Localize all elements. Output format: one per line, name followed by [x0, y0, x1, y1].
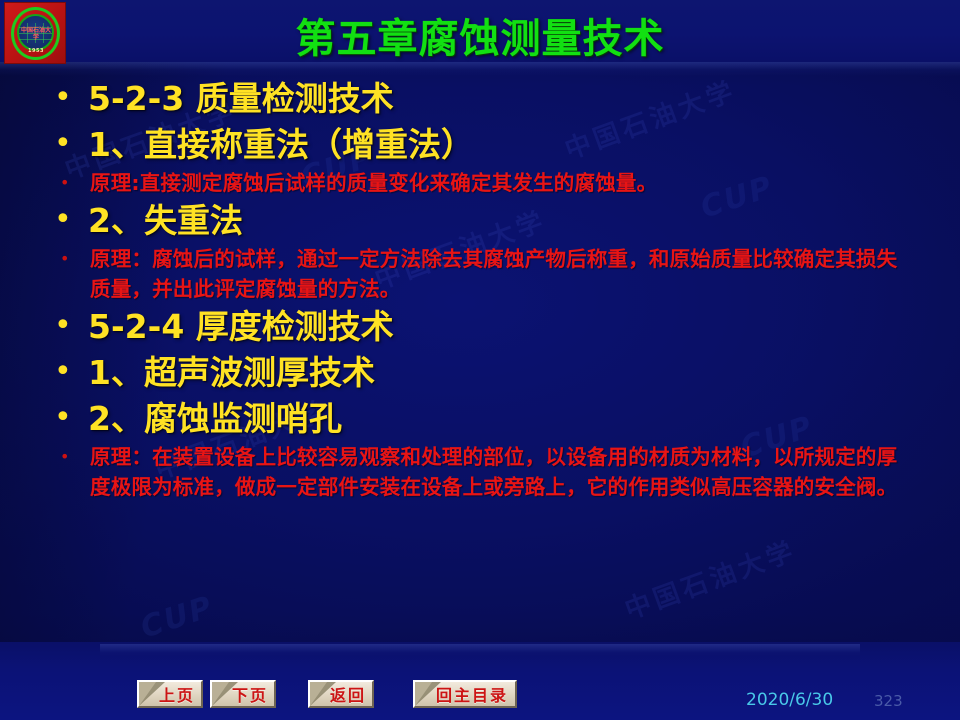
- sub-text: 原理：在装置设备上比较容易观察和处理的部位，以设备用的材质为材料，以所规定的厚度…: [90, 442, 902, 502]
- content-sub-row: •原理：在装置设备上比较容易观察和处理的部位，以设备用的材质为材料，以所规定的厚…: [0, 442, 960, 502]
- slide-title-bar: 第五章腐蚀测量技术: [0, 0, 960, 62]
- heading-text: 1、超声波测厚技术: [88, 350, 375, 396]
- seal-chinese-name: 中国石油大学: [19, 27, 53, 41]
- return-label: 返回: [310, 682, 372, 706]
- title-underglow: [0, 62, 960, 76]
- sub-text: 原理:直接测定腐蚀后试样的质量变化来确定其发生的腐蚀量。: [90, 168, 657, 198]
- bullet-icon: •: [60, 442, 90, 472]
- content-heading-row: •5-2-3 质量检测技术: [0, 76, 960, 122]
- bullet-icon: •: [54, 76, 88, 120]
- bullet-icon: •: [54, 396, 88, 440]
- bullet-icon: •: [60, 244, 90, 274]
- heading-text: 2、失重法: [88, 198, 243, 244]
- seal-year: 1953: [5, 48, 67, 54]
- page-title: 第五章腐蚀测量技术: [0, 6, 960, 64]
- next-page-button[interactable]: 下页: [210, 680, 276, 708]
- heading-text: 1、直接称重法（增重法）: [88, 122, 474, 168]
- main-menu-button[interactable]: 回主目录: [413, 680, 517, 708]
- bullet-icon: •: [60, 168, 90, 198]
- content-sub-row: •原理:直接测定腐蚀后试样的质量变化来确定其发生的腐蚀量。: [0, 168, 960, 198]
- presentation-slide: 中国石油大学中国石油大学中国石油大学中国石油大学中国石油大学CUPCUPCUPC…: [0, 0, 960, 720]
- content-heading-row: •1、超声波测厚技术: [0, 350, 960, 396]
- main-menu-label: 回主目录: [415, 682, 515, 706]
- prev-page-label: 上页: [139, 682, 201, 706]
- university-logo: 中国石油大学 1953: [4, 2, 66, 64]
- return-button[interactable]: 返回: [308, 680, 374, 708]
- bullet-icon: •: [54, 122, 88, 166]
- next-page-label: 下页: [212, 682, 274, 706]
- sub-text: 原理：腐蚀后的试样，通过一定方法除去其腐蚀产物后称重，和原始质量比较确定其损失质…: [90, 244, 902, 304]
- bullet-icon: •: [54, 350, 88, 394]
- bullet-icon: •: [54, 198, 88, 242]
- heading-text: 5-2-3 质量检测技术: [88, 76, 394, 122]
- prev-page-button[interactable]: 上页: [137, 680, 203, 708]
- slide-date: 2020/6/30: [746, 690, 833, 710]
- heading-text: 2、腐蚀监测哨孔: [88, 396, 342, 442]
- content-heading-row: •2、失重法: [0, 198, 960, 244]
- heading-text: 5-2-4 厚度检测技术: [88, 304, 394, 350]
- content-sub-row: •原理：腐蚀后的试样，通过一定方法除去其腐蚀产物后称重，和原始质量比较确定其损失…: [0, 244, 960, 304]
- slide-content: •5-2-3 质量检测技术•1、直接称重法（增重法）•原理:直接测定腐蚀后试样的…: [0, 76, 960, 642]
- slide-page-number: 323: [874, 692, 903, 710]
- bullet-icon: •: [54, 304, 88, 348]
- content-heading-row: •2、腐蚀监测哨孔: [0, 396, 960, 442]
- content-heading-row: •5-2-4 厚度检测技术: [0, 304, 960, 350]
- content-heading-row: •1、直接称重法（增重法）: [0, 122, 960, 168]
